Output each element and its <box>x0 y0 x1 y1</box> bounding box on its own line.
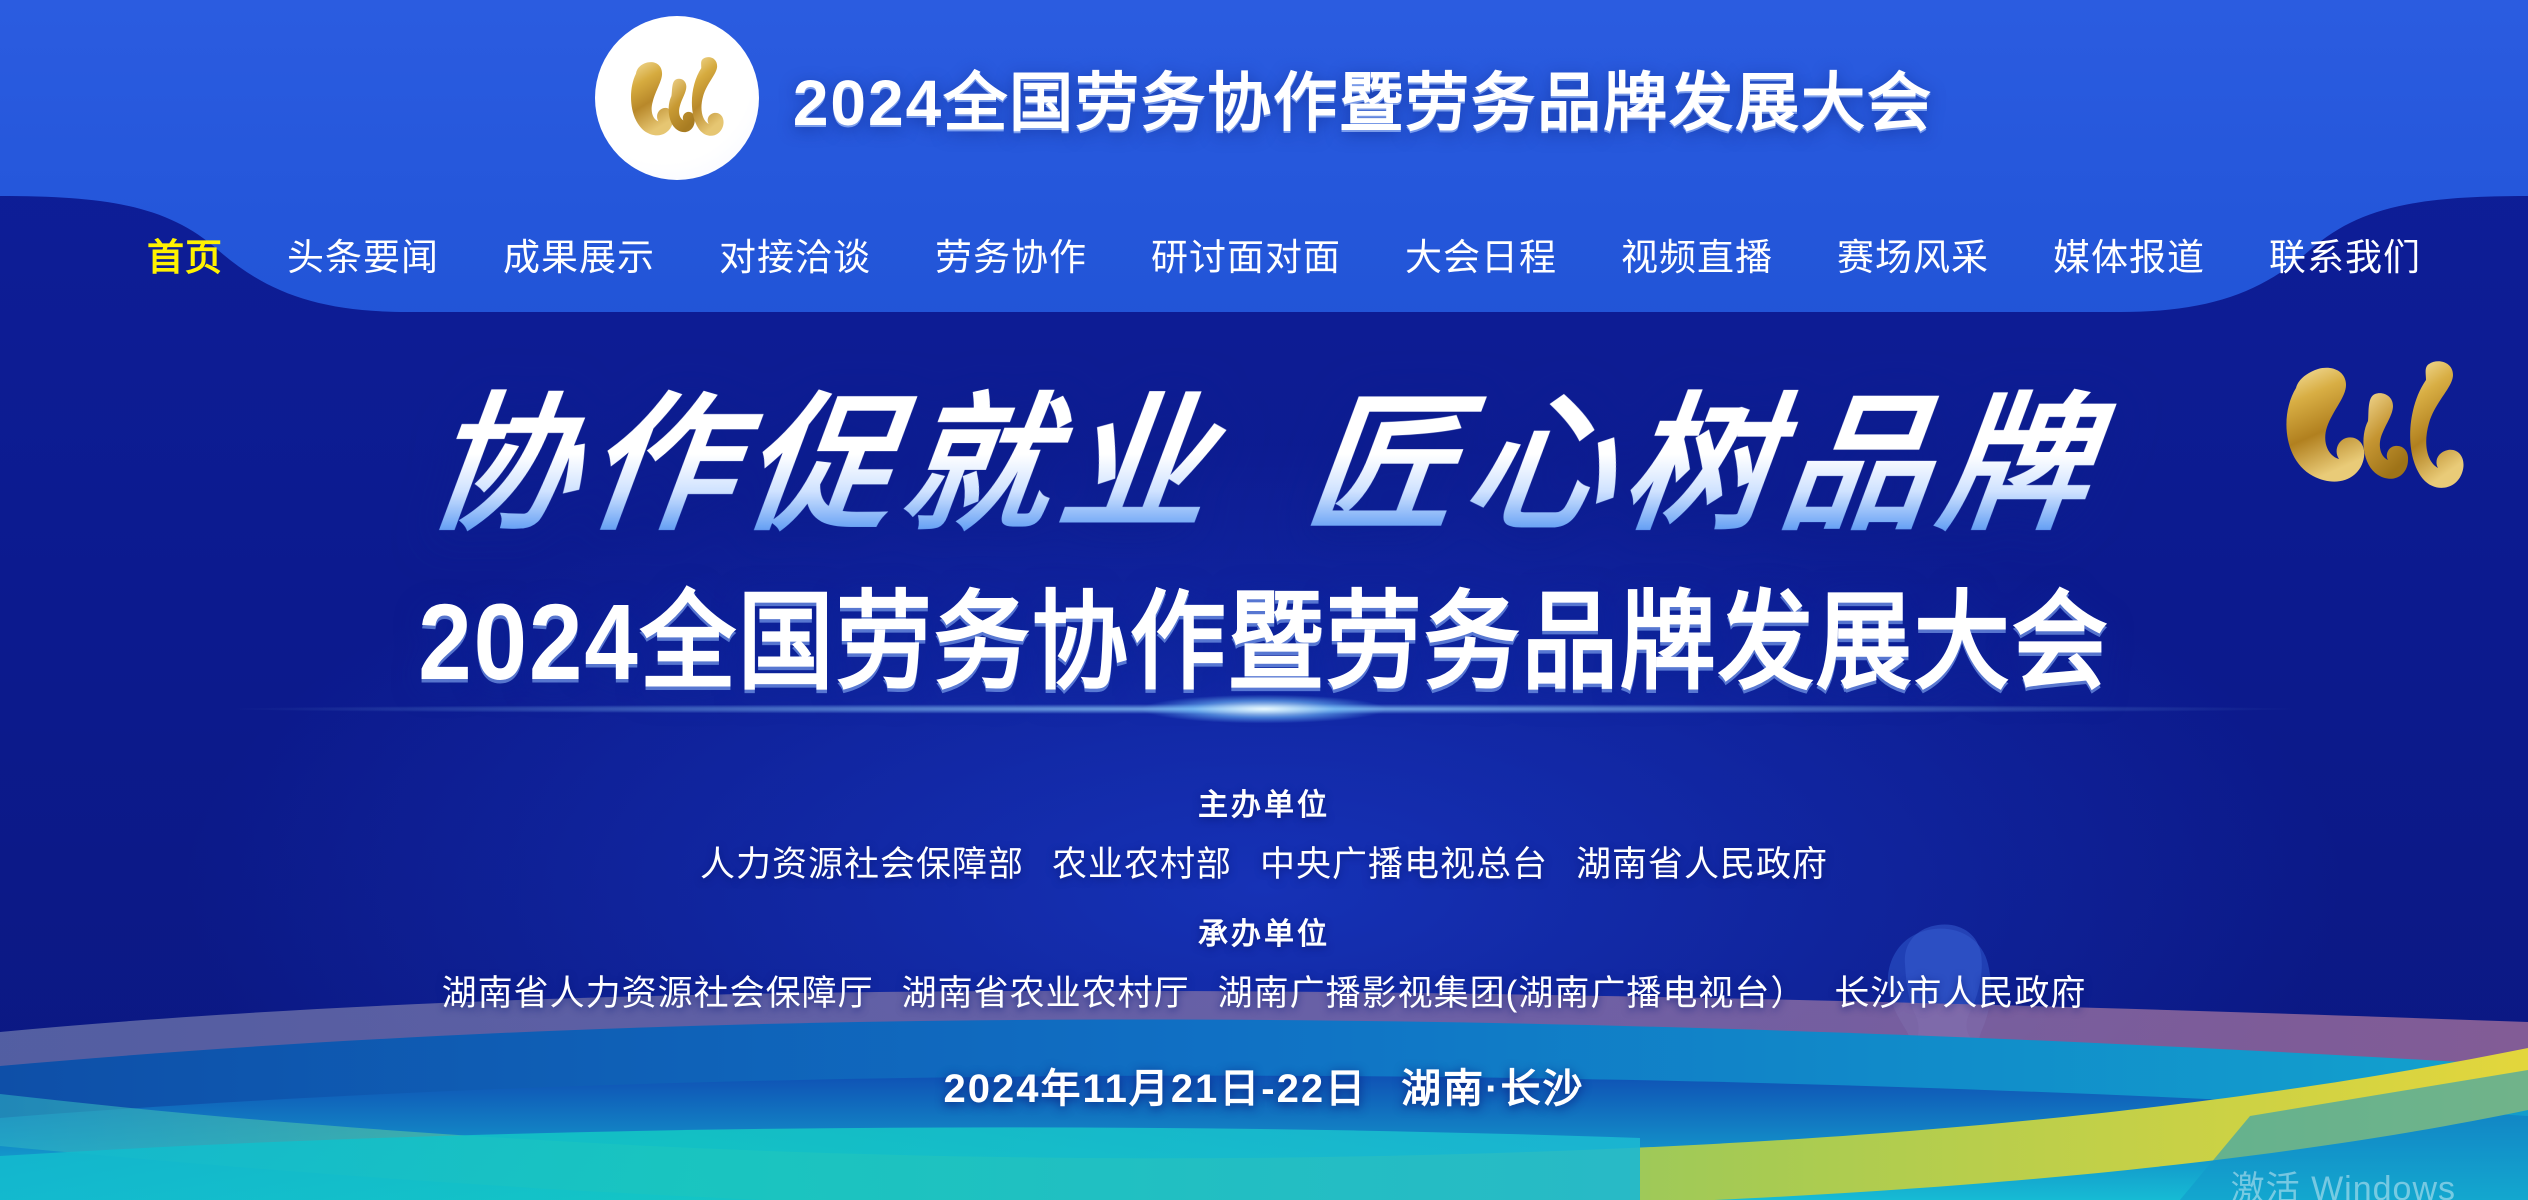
main-navigation: 首页头条要闻成果展示对接洽谈劳务协作研讨面对面大会日程视频直播赛场风采媒体报道联… <box>0 196 2528 312</box>
nav-item-6[interactable]: 大会日程 <box>1373 227 1589 281</box>
coorganizer-item-3: 长沙市人民政府 <box>1834 974 2086 1013</box>
coorganizer-item-1: 湖南省农业农村厅 <box>902 974 1190 1013</box>
site-header: 2024全国劳务协作暨劳务品牌发展大会 <box>0 0 2528 196</box>
host-item-2: 中央广播电视总台 <box>1260 845 1548 884</box>
nav-item-1[interactable]: 头条要闻 <box>255 227 471 281</box>
host-item-0: 人力资源社会保障部 <box>700 845 1024 884</box>
nav-item-2[interactable]: 成果展示 <box>471 227 687 281</box>
nav-item-3[interactable]: 对接洽谈 <box>687 227 903 281</box>
event-place: 湖南·长沙 <box>1401 1067 1584 1111</box>
nav-item-10[interactable]: 联系我们 <box>2237 227 2453 281</box>
host-item-3: 湖南省人民政府 <box>1576 845 1828 884</box>
conference-logo[interactable] <box>595 16 759 180</box>
slogan-left: 协作促就业 <box>419 383 1229 548</box>
gold-ribbon-emblem-icon <box>2266 358 2486 490</box>
coorganizer-label: 承办单位 <box>0 909 2528 953</box>
organizers-section: 主办单位 人力资源社会保障部农业农村部中央广播电视总台湖南省人民政府 承办单位 … <box>0 780 2528 1016</box>
nav-item-5[interactable]: 研讨面对面 <box>1119 227 1373 281</box>
nav-item-7[interactable]: 视频直播 <box>1589 227 1805 281</box>
nav-item-8[interactable]: 赛场风采 <box>1805 227 2021 281</box>
hero-section: 协作促就业匠心树品牌 2024全国劳务协作暨劳务品牌发展大会 主办单位 人力资源… <box>0 342 2528 1114</box>
coorganizer-list: 湖南省人力资源社会保障厅湖南省农业农村厅湖南广播影视集团(湖南广播电视台）长沙市… <box>0 965 2528 1016</box>
host-list: 人力资源社会保障部农业农村部中央广播电视总台湖南省人民政府 <box>0 836 2528 887</box>
hero-subtitle: 2024全国劳务协作暨劳务品牌发展大会 <box>418 555 2110 711</box>
nav-item-4[interactable]: 劳务协作 <box>903 227 1119 281</box>
slogan-right: 匠心树品牌 <box>1299 383 2109 548</box>
conference-landing-page: 2024全国劳务协作暨劳务品牌发展大会 首页头条要闻成果展示对接洽谈劳务协作研讨… <box>0 0 2528 1200</box>
conference-ribbon-emblem-icon <box>621 53 733 143</box>
coorganizer-item-2: 湖南广播影视集团(湖南广播电视台） <box>1218 974 1807 1013</box>
host-label: 主办单位 <box>0 780 2528 824</box>
header-title: 2024全国劳务协作暨劳务品牌发展大会 <box>793 52 1933 144</box>
hero-slogan: 协作促就业匠心树品牌 <box>0 388 2528 545</box>
host-item-1: 农业农村部 <box>1052 845 1232 884</box>
event-date: 2024年11月21日-22日 <box>944 1067 1368 1111</box>
coorganizer-item-0: 湖南省人力资源社会保障厅 <box>442 974 874 1013</box>
nav-item-9[interactable]: 媒体报道 <box>2021 227 2237 281</box>
hero-subtitle-wrap: 2024全国劳务协作暨劳务品牌发展大会 <box>0 563 2528 702</box>
nav-item-0[interactable]: 首页 <box>115 227 255 281</box>
event-datebar: 2024年11月21日-22日湖南·长沙 <box>0 1056 2528 1114</box>
